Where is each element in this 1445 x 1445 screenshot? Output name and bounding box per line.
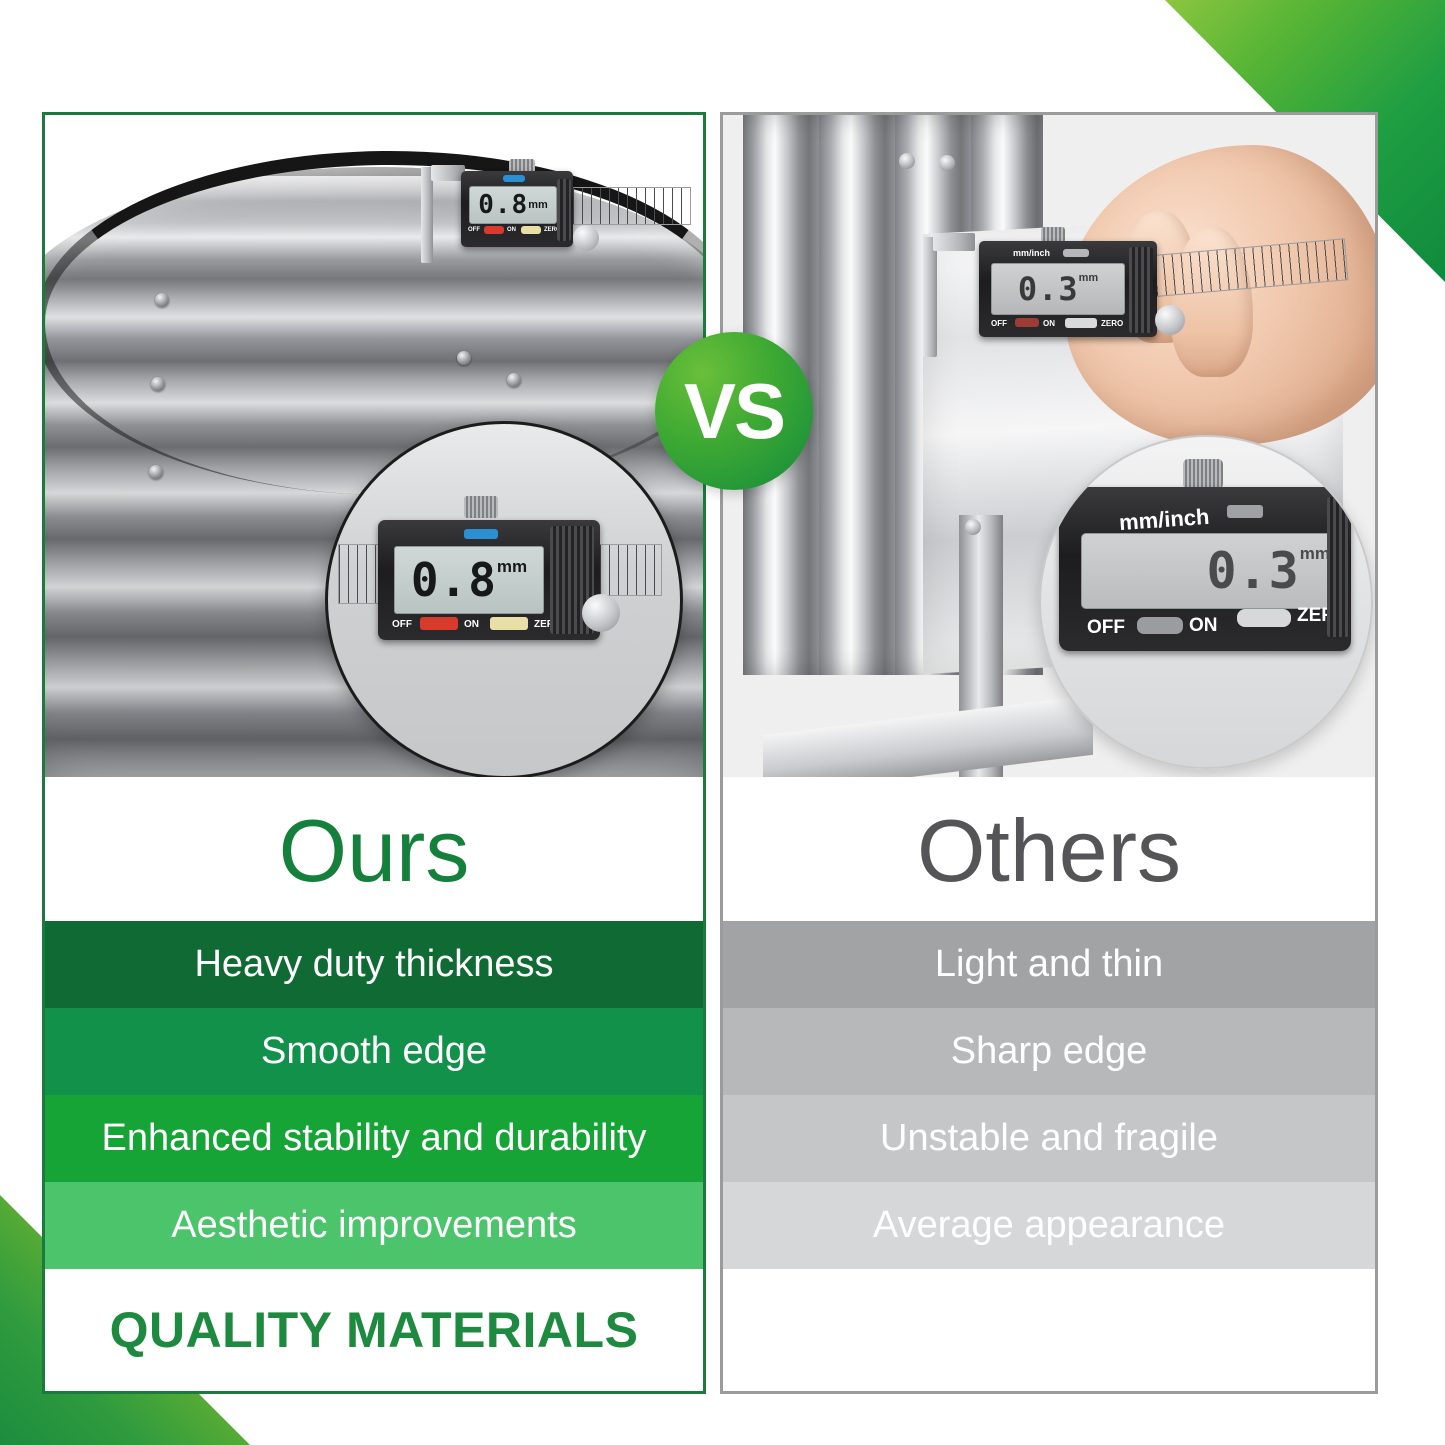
feature-label: Unstable and fragile — [880, 1117, 1218, 1160]
caliper-scale — [1144, 238, 1349, 297]
caliper-knob — [1183, 459, 1223, 489]
feature-row-ours: Heavy duty thickness — [45, 921, 703, 1008]
feature-label: Sharp edge — [951, 1030, 1148, 1073]
caliper-scale — [563, 187, 691, 225]
caliper-unit: mm — [497, 557, 527, 577]
caliper-jaw-tip — [933, 233, 975, 251]
caliper-mode-button[interactable] — [464, 529, 498, 539]
caliper-on-label: ON — [464, 619, 479, 630]
caliper-zero-button[interactable] — [521, 226, 541, 234]
caliper-unit: mm — [1300, 544, 1330, 564]
caliper-zero-label: ZERO — [1101, 319, 1123, 328]
caliper-off-label: OFF — [991, 319, 1007, 328]
caliper-display: 0.3mm — [991, 263, 1125, 315]
feature-row-ours: Enhanced stability and durability — [45, 1095, 703, 1182]
comparison-panels: 0.8mm OFF ON ZERO — [42, 112, 1404, 1394]
caliper-value: 0.8 — [411, 557, 497, 603]
caliper-thumbwheel[interactable] — [582, 594, 620, 632]
caliper-ours-magnified: 0.8mm OFF ON ZERO — [360, 520, 646, 690]
rivet-icon — [151, 377, 165, 391]
caliper-others-top: mm/inch 0.3mm OFF ON ZERO — [923, 233, 1343, 363]
photo-others: mm/inch 0.3mm OFF ON ZERO — [723, 115, 1375, 777]
caliper-thumbwheel[interactable] — [1155, 305, 1185, 335]
vs-badge: VS — [655, 332, 813, 490]
caliper-on-label: ON — [1189, 615, 1218, 637]
caliper-body: 0.8mm OFF ON ZERO — [378, 520, 600, 640]
feature-row-ours: Smooth edge — [45, 1008, 703, 1095]
caliper-grip — [557, 179, 571, 241]
infographic-stage: 0.8mm OFF ON ZERO — [0, 0, 1445, 1445]
caliper-body: 0.8mm OFF ON ZERO — [461, 171, 573, 247]
caliper-off-label: OFF — [468, 227, 480, 233]
caliper-zero-button[interactable] — [1065, 318, 1097, 328]
caliper-value: 0.3 — [1018, 273, 1079, 305]
caliper-power-button[interactable] — [1015, 318, 1039, 327]
caliper-off-label: OFF — [1087, 617, 1125, 639]
caliper-display: 0.3mm — [1081, 533, 1341, 609]
feature-label: Smooth edge — [261, 1030, 487, 1073]
magnifier-others: mm/inch 0.3mm OFF ON ZERO — [1039, 435, 1373, 769]
caliper-on-label: ON — [1043, 319, 1055, 328]
caliper-body: mm/inch 0.3mm OFF ON ZERO — [1059, 487, 1351, 651]
bolt-icon — [939, 155, 955, 171]
caliper-value: 0.3 — [1206, 546, 1299, 596]
footer-band-others — [723, 1269, 1375, 1391]
footer-band-ours: QUALITY MATERIALS — [45, 1269, 703, 1391]
caliper-power-button[interactable] — [420, 617, 458, 630]
bolt-icon — [899, 153, 915, 169]
caliper-ours-top: 0.8mm OFF ON ZERO — [423, 165, 685, 269]
feature-label: Aesthetic improvements — [171, 1204, 577, 1247]
caliper-zero-button[interactable] — [1237, 609, 1291, 627]
panel-ours: 0.8mm OFF ON ZERO — [42, 112, 706, 1394]
caliper-on-label: ON — [507, 227, 516, 233]
feature-row-others: Average appearance — [723, 1182, 1375, 1269]
caliper-others-magnified: mm/inch 0.3mm OFF ON ZERO — [1051, 483, 1359, 673]
feature-label: Average appearance — [873, 1204, 1225, 1247]
feature-row-others: Light and thin — [723, 921, 1375, 1008]
caliper-power-button[interactable] — [1137, 617, 1183, 634]
rivet-icon — [155, 293, 169, 307]
caliper-mode-button[interactable] — [503, 175, 525, 182]
feature-label: Heavy duty thickness — [194, 943, 553, 986]
rivet-icon — [149, 465, 163, 479]
caliper-display: 0.8mm — [469, 186, 557, 224]
feature-label: Enhanced stability and durability — [101, 1117, 646, 1160]
caliper-display: 0.8mm — [394, 546, 544, 614]
caliper-scale-right — [590, 544, 662, 596]
caliper-knob — [464, 496, 498, 518]
caliper-jaw-tip — [431, 165, 465, 181]
caliper-body: mm/inch 0.3mm OFF ON ZERO — [979, 241, 1157, 337]
caliper-unit: mm — [528, 199, 548, 211]
magnifier-ours: 0.8mm OFF ON ZERO — [325, 421, 683, 777]
caliper-jaw — [421, 167, 433, 263]
caliper-unit: mm — [1079, 272, 1099, 284]
caliper-value: 0.8 — [478, 192, 528, 218]
caliper-power-button[interactable] — [484, 226, 504, 234]
caliper-grip — [1129, 247, 1153, 333]
feature-row-others: Sharp edge — [723, 1008, 1375, 1095]
caliper-zero-button[interactable] — [490, 617, 528, 630]
caliper-mode-label: mm/inch — [1118, 504, 1210, 536]
caliper-mode-label: mm/inch — [1013, 248, 1050, 258]
vs-label: VS — [684, 372, 784, 450]
photo-ours: 0.8mm OFF ON ZERO — [45, 115, 703, 777]
bolt-icon — [965, 519, 981, 535]
caliper-thumbwheel[interactable] — [573, 225, 599, 251]
caliper-jaw — [923, 237, 937, 357]
base-foot — [763, 695, 1093, 777]
quality-materials-label: QUALITY MATERIALS — [110, 1301, 639, 1359]
rivet-icon — [507, 373, 521, 387]
caliper-mode-button[interactable] — [1227, 505, 1263, 518]
rivet-icon — [457, 351, 471, 365]
caliper-off-label: OFF — [392, 619, 412, 630]
heading-others: Others — [723, 777, 1375, 921]
feature-label: Light and thin — [935, 943, 1163, 986]
caliper-grip — [1327, 497, 1349, 637]
feature-row-ours: Aesthetic improvements — [45, 1182, 703, 1269]
feature-row-others: Unstable and fragile — [723, 1095, 1375, 1182]
caliper-mode-button[interactable] — [1063, 249, 1089, 257]
heading-ours: Ours — [45, 777, 703, 921]
panel-others: mm/inch 0.3mm OFF ON ZERO — [720, 112, 1378, 1394]
